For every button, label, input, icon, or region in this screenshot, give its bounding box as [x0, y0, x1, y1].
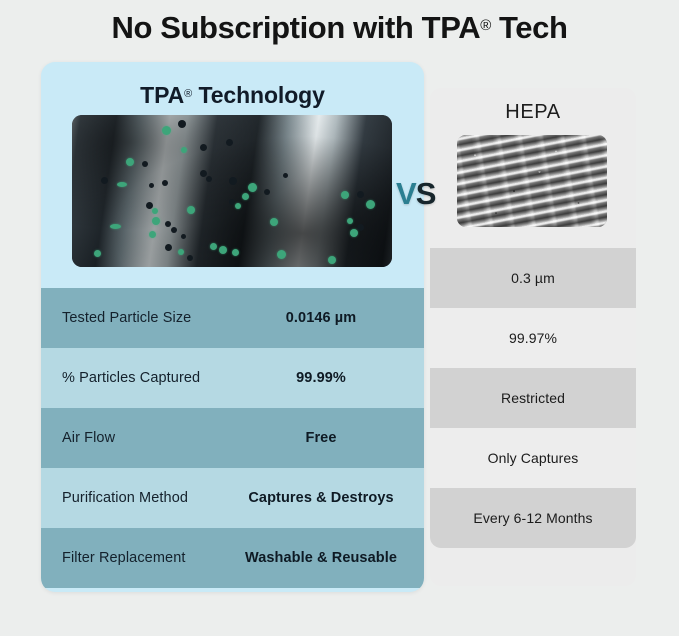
page-title-text-after: Tech: [491, 10, 568, 45]
tpa-blades-particles-photo: [72, 115, 392, 267]
registered-mark-icon: ®: [184, 88, 192, 100]
tpa-card: TPA® Technology: [41, 62, 424, 592]
page-title: No Subscription with TPA® Tech: [0, 0, 679, 52]
hepa-mesh-microscope-photo: [457, 135, 607, 227]
table-row: Air Flow Free: [41, 408, 424, 468]
row-label: % Particles Captured: [41, 370, 226, 386]
registered-mark-icon: ®: [480, 17, 491, 34]
table-row: Filter Replacement Washable & Reusable: [41, 528, 424, 588]
row-value: Captures & Destroys: [226, 490, 424, 506]
hepa-grain-overlay: [457, 135, 607, 227]
tpa-title-text-after: Technology: [192, 82, 325, 108]
row-label: Filter Replacement: [41, 550, 226, 566]
row-label: Air Flow: [41, 430, 226, 446]
page-title-text-before: No Subscription with TPA: [111, 10, 480, 45]
table-row: Purification Method Captures & Destroys: [41, 468, 424, 528]
hepa-row: 99.97%: [430, 308, 636, 368]
hepa-title: HEPA: [430, 88, 636, 132]
hepa-row: Restricted: [430, 368, 636, 428]
vs-badge-v: V: [396, 176, 416, 211]
row-value: 0.0146 µm: [226, 310, 424, 326]
row-label: Tested Particle Size: [41, 310, 226, 326]
vs-badge: VS: [396, 178, 435, 209]
hepa-rows: 0.3 µm 99.97% Restricted Only Captures E…: [430, 248, 636, 548]
hepa-row: 0.3 µm: [430, 248, 636, 308]
hepa-row: Only Captures: [430, 428, 636, 488]
vs-badge-s: S: [416, 176, 436, 211]
row-label: Purification Method: [41, 490, 226, 506]
tpa-rows: Tested Particle Size 0.0146 µm % Particl…: [41, 288, 424, 588]
tpa-title-text-before: TPA: [140, 82, 184, 108]
tpa-title: TPA® Technology: [41, 82, 424, 109]
hepa-row: Every 6-12 Months: [430, 488, 636, 548]
table-row: % Particles Captured 99.99%: [41, 348, 424, 408]
tpa-particle-dots: [72, 115, 392, 267]
row-value: Free: [226, 430, 424, 446]
hepa-panel: HEPA 0.3 µm 99.97% Restricted Only Captu…: [430, 88, 636, 586]
row-value: Washable & Reusable: [226, 550, 424, 566]
row-value: 99.99%: [226, 370, 424, 386]
table-row: Tested Particle Size 0.0146 µm: [41, 288, 424, 348]
